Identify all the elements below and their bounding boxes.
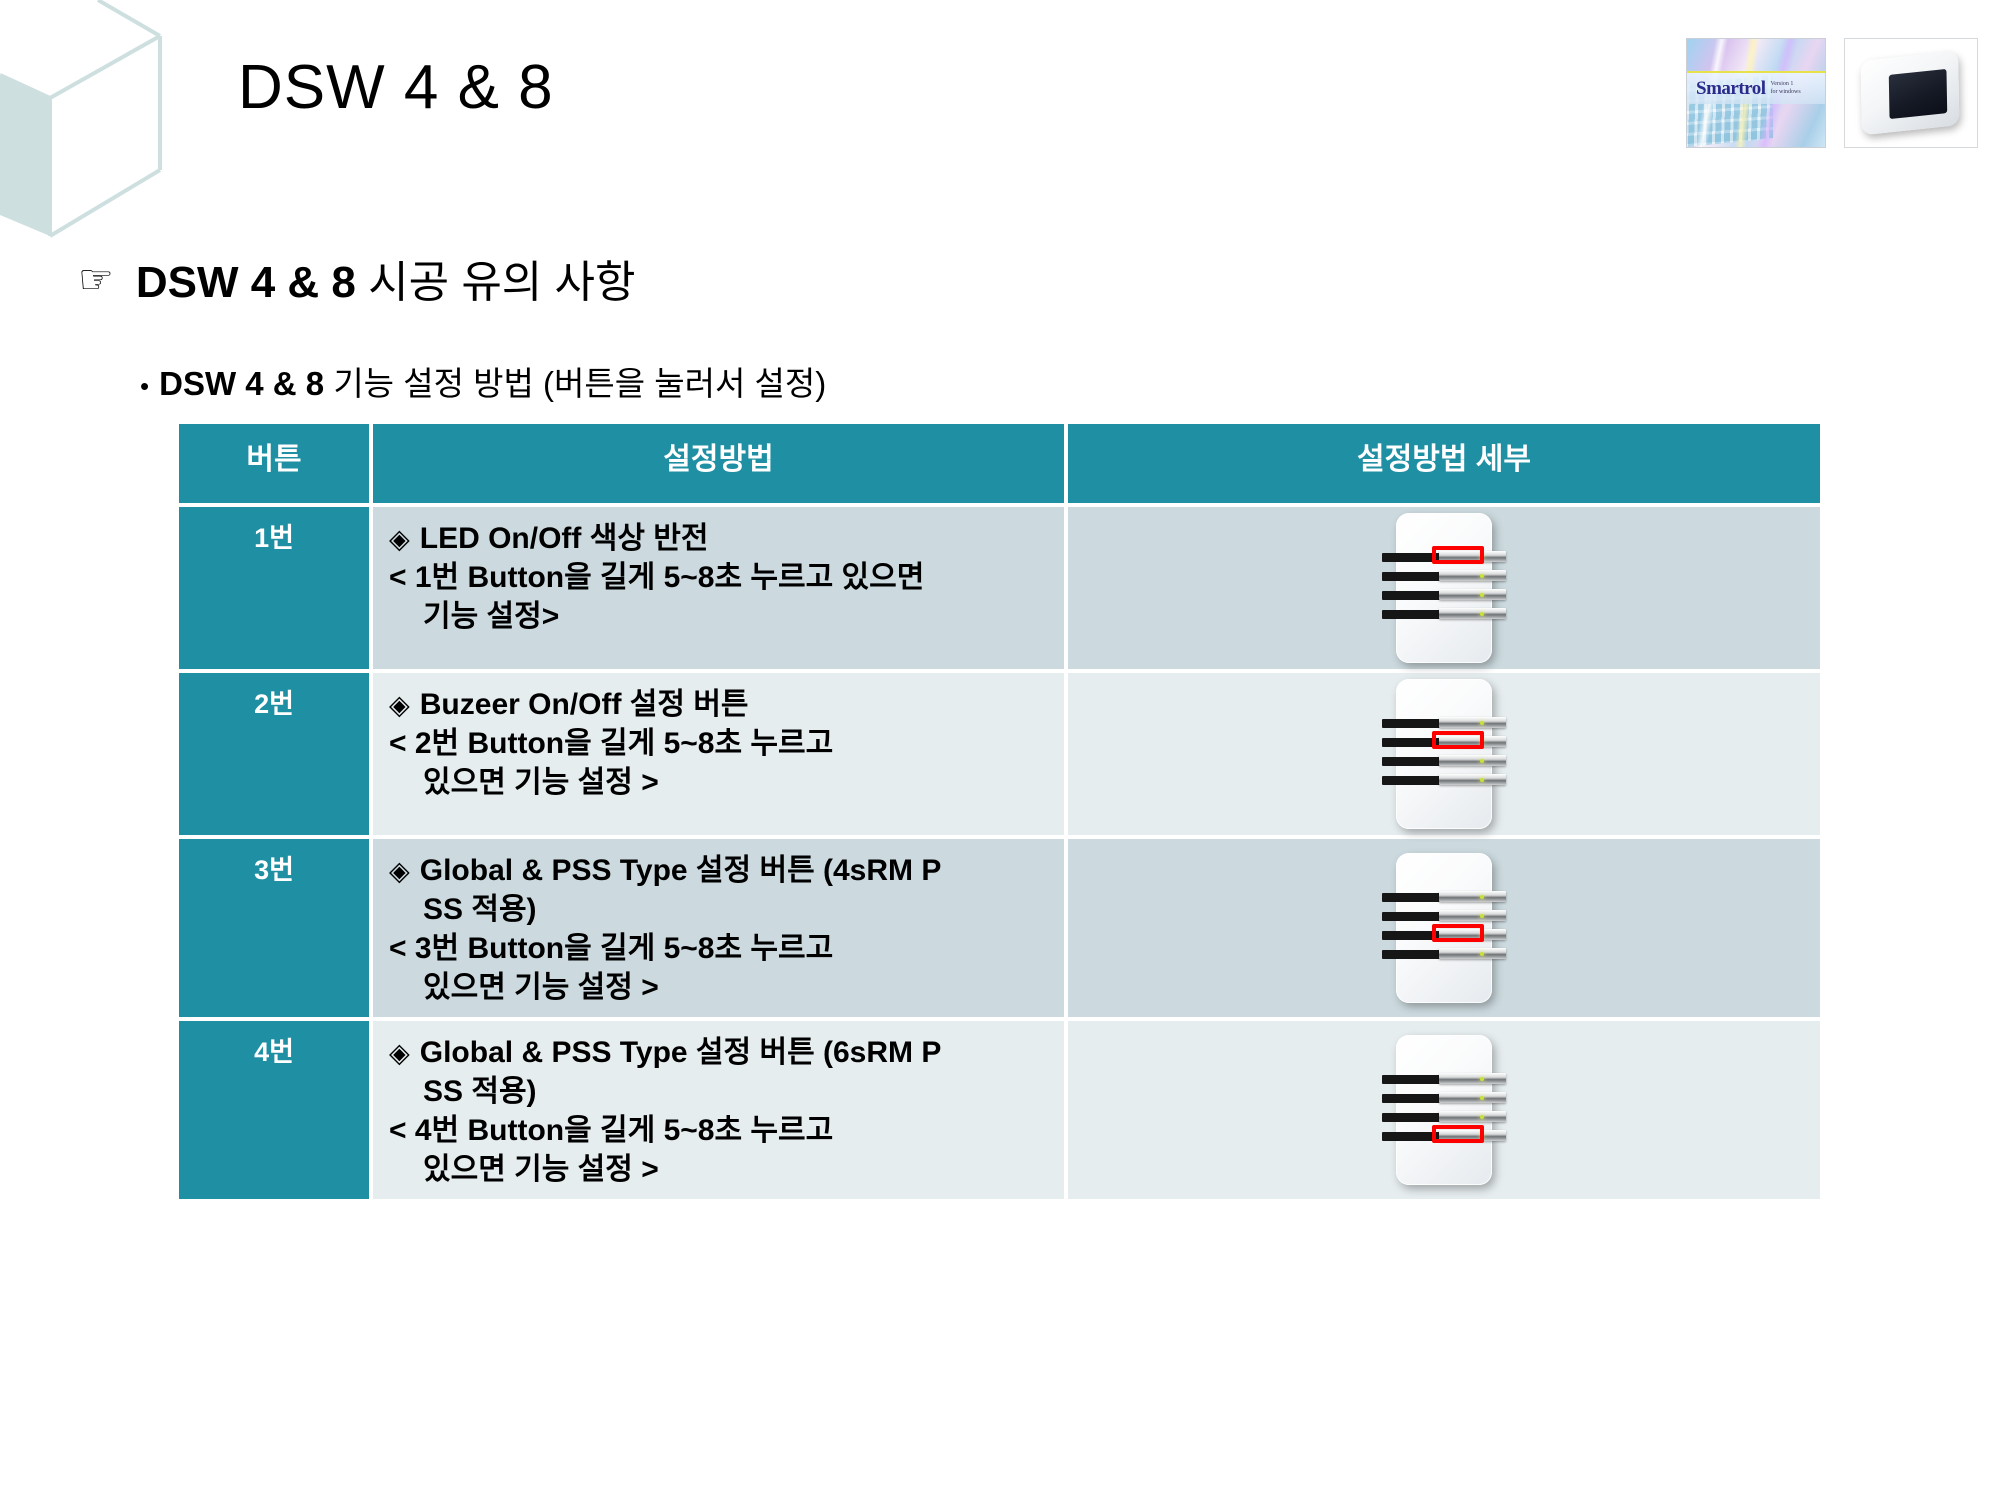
column-header-method: 설정방법 [373,424,1064,503]
switch-bar-1 [1382,891,1506,902]
switch-led-3 [1480,759,1484,763]
diamond-icon: ◈ [389,524,410,554]
bullet-line: • DSW 4 & 8 기능 설정 방법 (버튼을 눌러서 설정) [140,357,826,405]
switch-bar-4 [1382,608,1506,619]
diamond-icon: ◈ [389,690,410,720]
method-title-text: Global & PSS Type 설정 버튼 (6sRM P [420,1036,942,1069]
cell-switch-illustration [1068,1021,1820,1199]
switch-bar-2 [1382,910,1506,921]
method-title-line: ◈Global & PSS Type 설정 버튼 (6sRM P [389,1033,1056,1072]
bullet-rest: 기능 설정 방법 (버튼을 눌러서 설정) [324,365,826,402]
switch-bar-2 [1382,1092,1506,1103]
cell-method-description: ◈Global & PSS Type 설정 버튼 (6sRM P SS 적용) … [373,1021,1064,1199]
diamond-icon: ◈ [389,1038,410,1068]
section-heading-rest: 시공 유의 사항 [356,258,636,307]
red-highlight-box [1432,1125,1484,1143]
device-photo-thumbnail [1844,38,1978,148]
method-detail-text: < 3번 Button을 길게 5~8초 누르고 있으면 기능 설정 > [389,929,1056,1007]
method-detail-text: < 4번 Button을 길게 5~8초 누르고 있으면 기능 설정 > [389,1111,1056,1189]
cell-switch-illustration [1068,507,1820,669]
instruction-table: 버튼 설정방법 설정방법 세부 1번 ◈LED On/Off 색상 반전 < 1… [175,420,1824,1203]
table-row: 2번 ◈Buzeer On/Off 설정 버튼 < 2번 Button을 길게 … [179,673,1820,835]
table-row: 4번 ◈Global & PSS Type 설정 버튼 (6sRM P SS 적… [179,1021,1820,1199]
table-row: 1번 ◈LED On/Off 색상 반전 < 1번 Button을 길게 5~8… [179,507,1820,669]
switch-bar-4 [1382,774,1506,785]
cell-method-description: ◈Global & PSS Type 설정 버튼 (4sRM P SS 적용) … [373,839,1064,1017]
method-detail-line2: 있으면 기능 설정 > [389,968,1056,1007]
switch-bar-3 [1382,755,1506,766]
decorative-cube-graphic [0,0,230,240]
switch-bar-1 [1382,717,1506,728]
method-detail-text: < 2번 Button을 길게 5~8초 누르고 있으면 기능 설정 > [389,724,1056,802]
instruction-table-wrapper: 버튼 설정방법 설정방법 세부 1번 ◈LED On/Off 색상 반전 < 1… [175,420,1820,1203]
switch-led-3 [1480,593,1484,597]
switch-led-2 [1480,574,1484,578]
brand-sub-label: Version 1 for windows [1771,81,1801,96]
section-heading-text: DSW 4 & 8 시공 유의 사항 [136,246,636,310]
switch-led-1 [1480,895,1484,899]
bullet-marker: • [140,373,149,399]
switch-bar-3 [1382,1111,1506,1122]
method-title-line2: SS 적용) [389,890,1056,929]
wall-switch-illustration [1396,679,1492,829]
method-title-text: Global & PSS Type 설정 버튼 (4sRM P [420,854,942,887]
method-detail-line2: 있으면 기능 설정 > [389,1150,1056,1189]
switch-bar-2 [1382,570,1506,581]
method-detail-line2: 기능 설정> [389,597,1056,636]
switch-led-4 [1480,952,1484,956]
method-title-line: ◈Global & PSS Type 설정 버튼 (4sRM P [389,851,1056,890]
thumbnail-strip: Smartrol Version 1 for windows [1686,38,1978,148]
brand-platform-label: for windows [1771,89,1801,95]
method-title-line: ◈LED On/Off 색상 반전 [389,519,1056,558]
method-title-line2: SS 적용) [389,1072,1056,1111]
cell-switch-illustration [1068,839,1820,1017]
switch-bars [1382,717,1506,791]
cell-button-number: 4번 [179,1021,369,1199]
cell-method-description: ◈LED On/Off 색상 반전 < 1번 Button을 길게 5~8초 누… [373,507,1064,669]
method-detail-line2: 있으면 기능 설정 > [389,763,1056,802]
switch-led-1 [1480,1077,1484,1081]
bullet-strong: DSW 4 & 8 [159,365,324,402]
cell-method-description: ◈Buzeer On/Off 설정 버튼 < 2번 Button을 길게 5~8… [373,673,1064,835]
pointing-hand-icon: ☞ [78,260,114,300]
table-row: 3번 ◈Global & PSS Type 설정 버튼 (4sRM P SS 적… [179,839,1820,1017]
method-title-line: ◈Buzeer On/Off 설정 버튼 [389,685,1056,724]
switch-bar-1 [1382,1073,1506,1084]
switch-bar-3 [1382,589,1506,600]
switch-led-2 [1480,1096,1484,1100]
device-screen-shape [1889,69,1947,119]
cell-button-number: 3번 [179,839,369,1017]
wall-switch-illustration [1396,513,1492,663]
method-detail-line1: < 4번 Button을 길게 5~8초 누르고 [389,1114,833,1147]
method-title-wrap: SS 적용) [389,1072,1056,1111]
section-heading: ☞ DSW 4 & 8 시공 유의 사항 [78,246,635,310]
method-title-text: Buzeer On/Off 설정 버튼 [420,688,749,721]
red-highlight-box [1432,924,1484,942]
switch-led-4 [1480,612,1484,616]
red-highlight-box [1432,731,1484,749]
switch-led-2 [1480,914,1484,918]
wall-switch-illustration [1396,853,1492,1003]
switch-led-1 [1480,721,1484,725]
switch-led-3 [1480,1115,1484,1119]
method-title-wrap: SS 적용) [389,890,1056,929]
column-header-button: 버튼 [179,424,369,503]
cell-switch-illustration [1068,673,1820,835]
brand-version-label: Version 1 [1771,81,1794,87]
cell-button-number: 2번 [179,673,369,835]
method-detail-line1: < 3번 Button을 길게 5~8초 누르고 [389,932,833,965]
switch-bar-4 [1382,948,1506,959]
table-header-row: 버튼 설정방법 설정방법 세부 [179,424,1820,503]
column-header-method-detail: 설정방법 세부 [1068,424,1820,503]
cell-button-number: 1번 [179,507,369,669]
section-heading-strong: DSW 4 & 8 [136,258,356,307]
diamond-icon: ◈ [389,856,410,886]
brand-band: Smartrol Version 1 for windows [1687,71,1825,103]
method-detail-line1: < 2번 Button을 길게 5~8초 누르고 [389,727,833,760]
bullet-text: DSW 4 & 8 기능 설정 방법 (버튼을 눌러서 설정) [159,357,826,405]
red-highlight-box [1432,546,1484,564]
brand-label: Smartrol [1696,78,1766,100]
smartrol-splash-thumbnail: Smartrol Version 1 for windows [1686,38,1826,148]
method-title-text: LED On/Off 색상 반전 [420,522,709,555]
switch-led-4 [1480,778,1484,782]
page-title: DSW 4 & 8 [238,52,554,123]
method-detail-text: < 1번 Button을 길게 5~8초 누르고 있으면 기능 설정> [389,558,1056,636]
wall-switch-illustration [1396,1035,1492,1185]
method-detail-line1: < 1번 Button을 길게 5~8초 누르고 있으면 [389,561,924,594]
